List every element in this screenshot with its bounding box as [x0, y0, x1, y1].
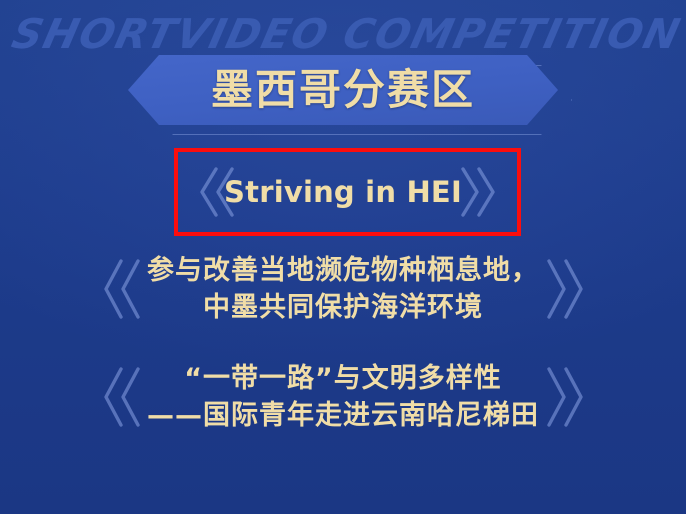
- region-banner: 墨西哥分赛区: [128, 55, 558, 125]
- entry-line: ——国际青年走进云南哈尼梯田: [0, 397, 686, 434]
- highlighted-entry-title: Striving in HEI: [0, 155, 686, 229]
- entry-line: “一带一路”与文明多样性: [0, 360, 686, 397]
- entry-line: 参与改善当地濒危物种栖息地，: [0, 252, 686, 289]
- region-banner-title: 墨西哥分赛区: [211, 69, 475, 111]
- entry-line: 中墨共同保护海洋环境: [0, 289, 686, 326]
- entry-belt-and-road: “一带一路”与文明多样性 ——国际青年走进云南哈尼梯田: [0, 360, 686, 434]
- region-banner-shape: 墨西哥分赛区: [128, 55, 558, 125]
- presentation-slide: SHORTVIDEO COMPETITION 墨西哥分赛区 Striving i…: [0, 0, 686, 514]
- watermark-title: SHORTVIDEO COMPETITION: [8, 14, 677, 55]
- entry-habitat: 参与改善当地濒危物种栖息地， 中墨共同保护海洋环境: [0, 252, 686, 326]
